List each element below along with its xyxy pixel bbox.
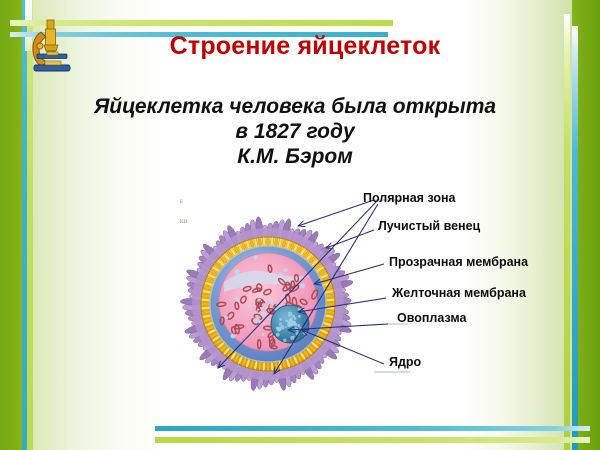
corner-tick-upper xyxy=(25,0,32,20)
leader-corona xyxy=(326,230,374,248)
subtitle-block: Яйцеклетка человека была открыта в 1827 … xyxy=(60,94,530,169)
subtitle-line-1: Яйцеклетка человека была открыта xyxy=(60,94,530,119)
bottom-cyan-rule xyxy=(155,426,590,431)
right-cyan-rule xyxy=(572,26,578,450)
leader-zona xyxy=(314,264,384,284)
microscope-icon xyxy=(20,18,80,76)
leader-nucleus xyxy=(302,330,384,364)
label-corona-radiata: Лучистый венец xyxy=(378,219,480,233)
left-green-bar xyxy=(0,0,22,450)
leader-polar-c xyxy=(274,204,378,374)
subtitle-line-3: К.М. Бэром xyxy=(60,144,530,169)
leader-polar-b xyxy=(218,202,376,368)
slide-canvas: Строение яйцеклеток Яйцеклетка человека … xyxy=(0,0,600,450)
leader-vitelline xyxy=(298,298,386,312)
bottom-lightgreen-rule xyxy=(155,437,590,443)
right-lightgreen-rule xyxy=(564,14,570,450)
page-title: Строение яйцеклеток xyxy=(110,32,500,61)
label-vitelline-membrane: Желточная мембрана xyxy=(392,286,526,300)
subtitle-line-2: в 1827 году xyxy=(60,119,530,144)
label-zona-pellucida: Прозрачная мембрана xyxy=(389,255,528,269)
label-polar-zone: Полярная зона xyxy=(363,191,456,205)
label-nucleus: Ядро xyxy=(389,355,421,369)
label-ooplasm: Овоплазма xyxy=(397,311,466,325)
